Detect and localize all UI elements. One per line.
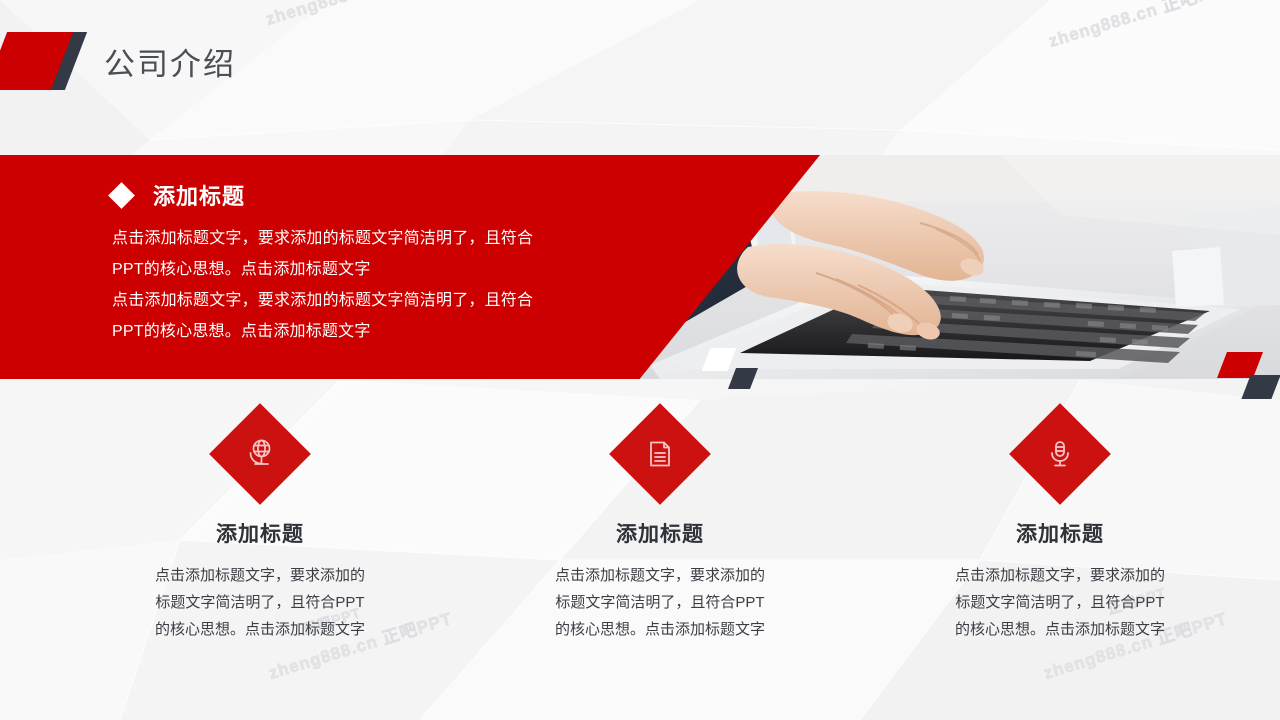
feature-paragraph-line: 点击添加标题文字，要求添加的 [110, 562, 410, 589]
banner-paragraph-line: PPT的核心思想。点击添加标题文字 [112, 254, 652, 285]
banner-title: 添加标题 [153, 179, 245, 211]
feature-paragraph: 点击添加标题文字，要求添加的 标题文字简洁明了，且符合PPT 的核心思想。点击添… [510, 562, 810, 643]
feature-column-2[interactable]: 添加标题 点击添加标题文字，要求添加的 标题文字简洁明了，且符合PPT 的核心思… [460, 418, 860, 643]
banner-content: 添加标题 点击添加标题文字，要求添加的标题文字简洁明了，且符合 PPT的核心思想… [112, 179, 652, 347]
globe-icon[interactable] [209, 403, 311, 505]
banner-paragraph-line: 点击添加标题文字，要求添加的标题文字简洁明了，且符合 [112, 285, 652, 316]
feature-paragraph-line: 标题文字简洁明了，且符合PPT [910, 589, 1210, 616]
document-icon[interactable] [609, 403, 711, 505]
feature-title: 添加标题 [216, 518, 304, 548]
feature-paragraph: 点击添加标题文字，要求添加的 标题文字简洁明了，且符合PPT 的核心思想。点击添… [910, 562, 1210, 643]
feature-title: 添加标题 [616, 518, 704, 548]
slide-header: 公司介绍 [0, 30, 236, 92]
feature-column-3[interactable]: 添加标题 点击添加标题文字，要求添加的 标题文字简洁明了，且符合PPT 的核心思… [860, 418, 1260, 643]
banner-heading-row: 添加标题 [112, 179, 652, 211]
banner-paragraph: 点击添加标题文字，要求添加的标题文字简洁明了，且符合 PPT的核心思想。点击添加… [112, 223, 652, 347]
feature-paragraph-line: 标题文字简洁明了，且符合PPT [110, 589, 410, 616]
feature-columns: 添加标题 点击添加标题文字，要求添加的 标题文字简洁明了，且符合PPT 的核心思… [0, 418, 1280, 643]
slide-root: zheng888.cn 正吧PPT zheng888.cn 正吧PPT zhen… [0, 0, 1280, 720]
watermark: zheng888.cn 正吧PPT [1045, 0, 1235, 52]
watermark: zheng888.cn 正吧PPT [262, 0, 452, 30]
banner-paragraph-line: 点击添加标题文字，要求添加的标题文字简洁明了，且符合 [112, 223, 652, 254]
feature-column-1[interactable]: 添加标题 点击添加标题文字，要求添加的 标题文字简洁明了，且符合PPT 的核心思… [60, 418, 460, 643]
feature-paragraph: 点击添加标题文字，要求添加的 标题文字简洁明了，且符合PPT 的核心思想。点击添… [110, 562, 410, 643]
hero-banner: 添加标题 点击添加标题文字，要求添加的标题文字简洁明了，且符合 PPT的核心思想… [0, 155, 1280, 379]
feature-paragraph-line: 的核心思想。点击添加标题文字 [110, 616, 410, 643]
feature-paragraph-line: 标题文字简洁明了，且符合PPT [510, 589, 810, 616]
feature-title: 添加标题 [1016, 518, 1104, 548]
banner-paragraph-line: PPT的核心思想。点击添加标题文字 [112, 316, 652, 347]
microphone-icon[interactable] [1009, 403, 1111, 505]
page-title: 公司介绍 [104, 39, 236, 84]
feature-paragraph-line: 点击添加标题文字，要求添加的 [510, 562, 810, 589]
diamond-bullet-icon [108, 182, 135, 209]
logo-icon [0, 32, 92, 90]
feature-paragraph-line: 点击添加标题文字，要求添加的 [910, 562, 1210, 589]
feature-paragraph-line: 的核心思想。点击添加标题文字 [910, 616, 1210, 643]
feature-paragraph-line: 的核心思想。点击添加标题文字 [510, 616, 810, 643]
